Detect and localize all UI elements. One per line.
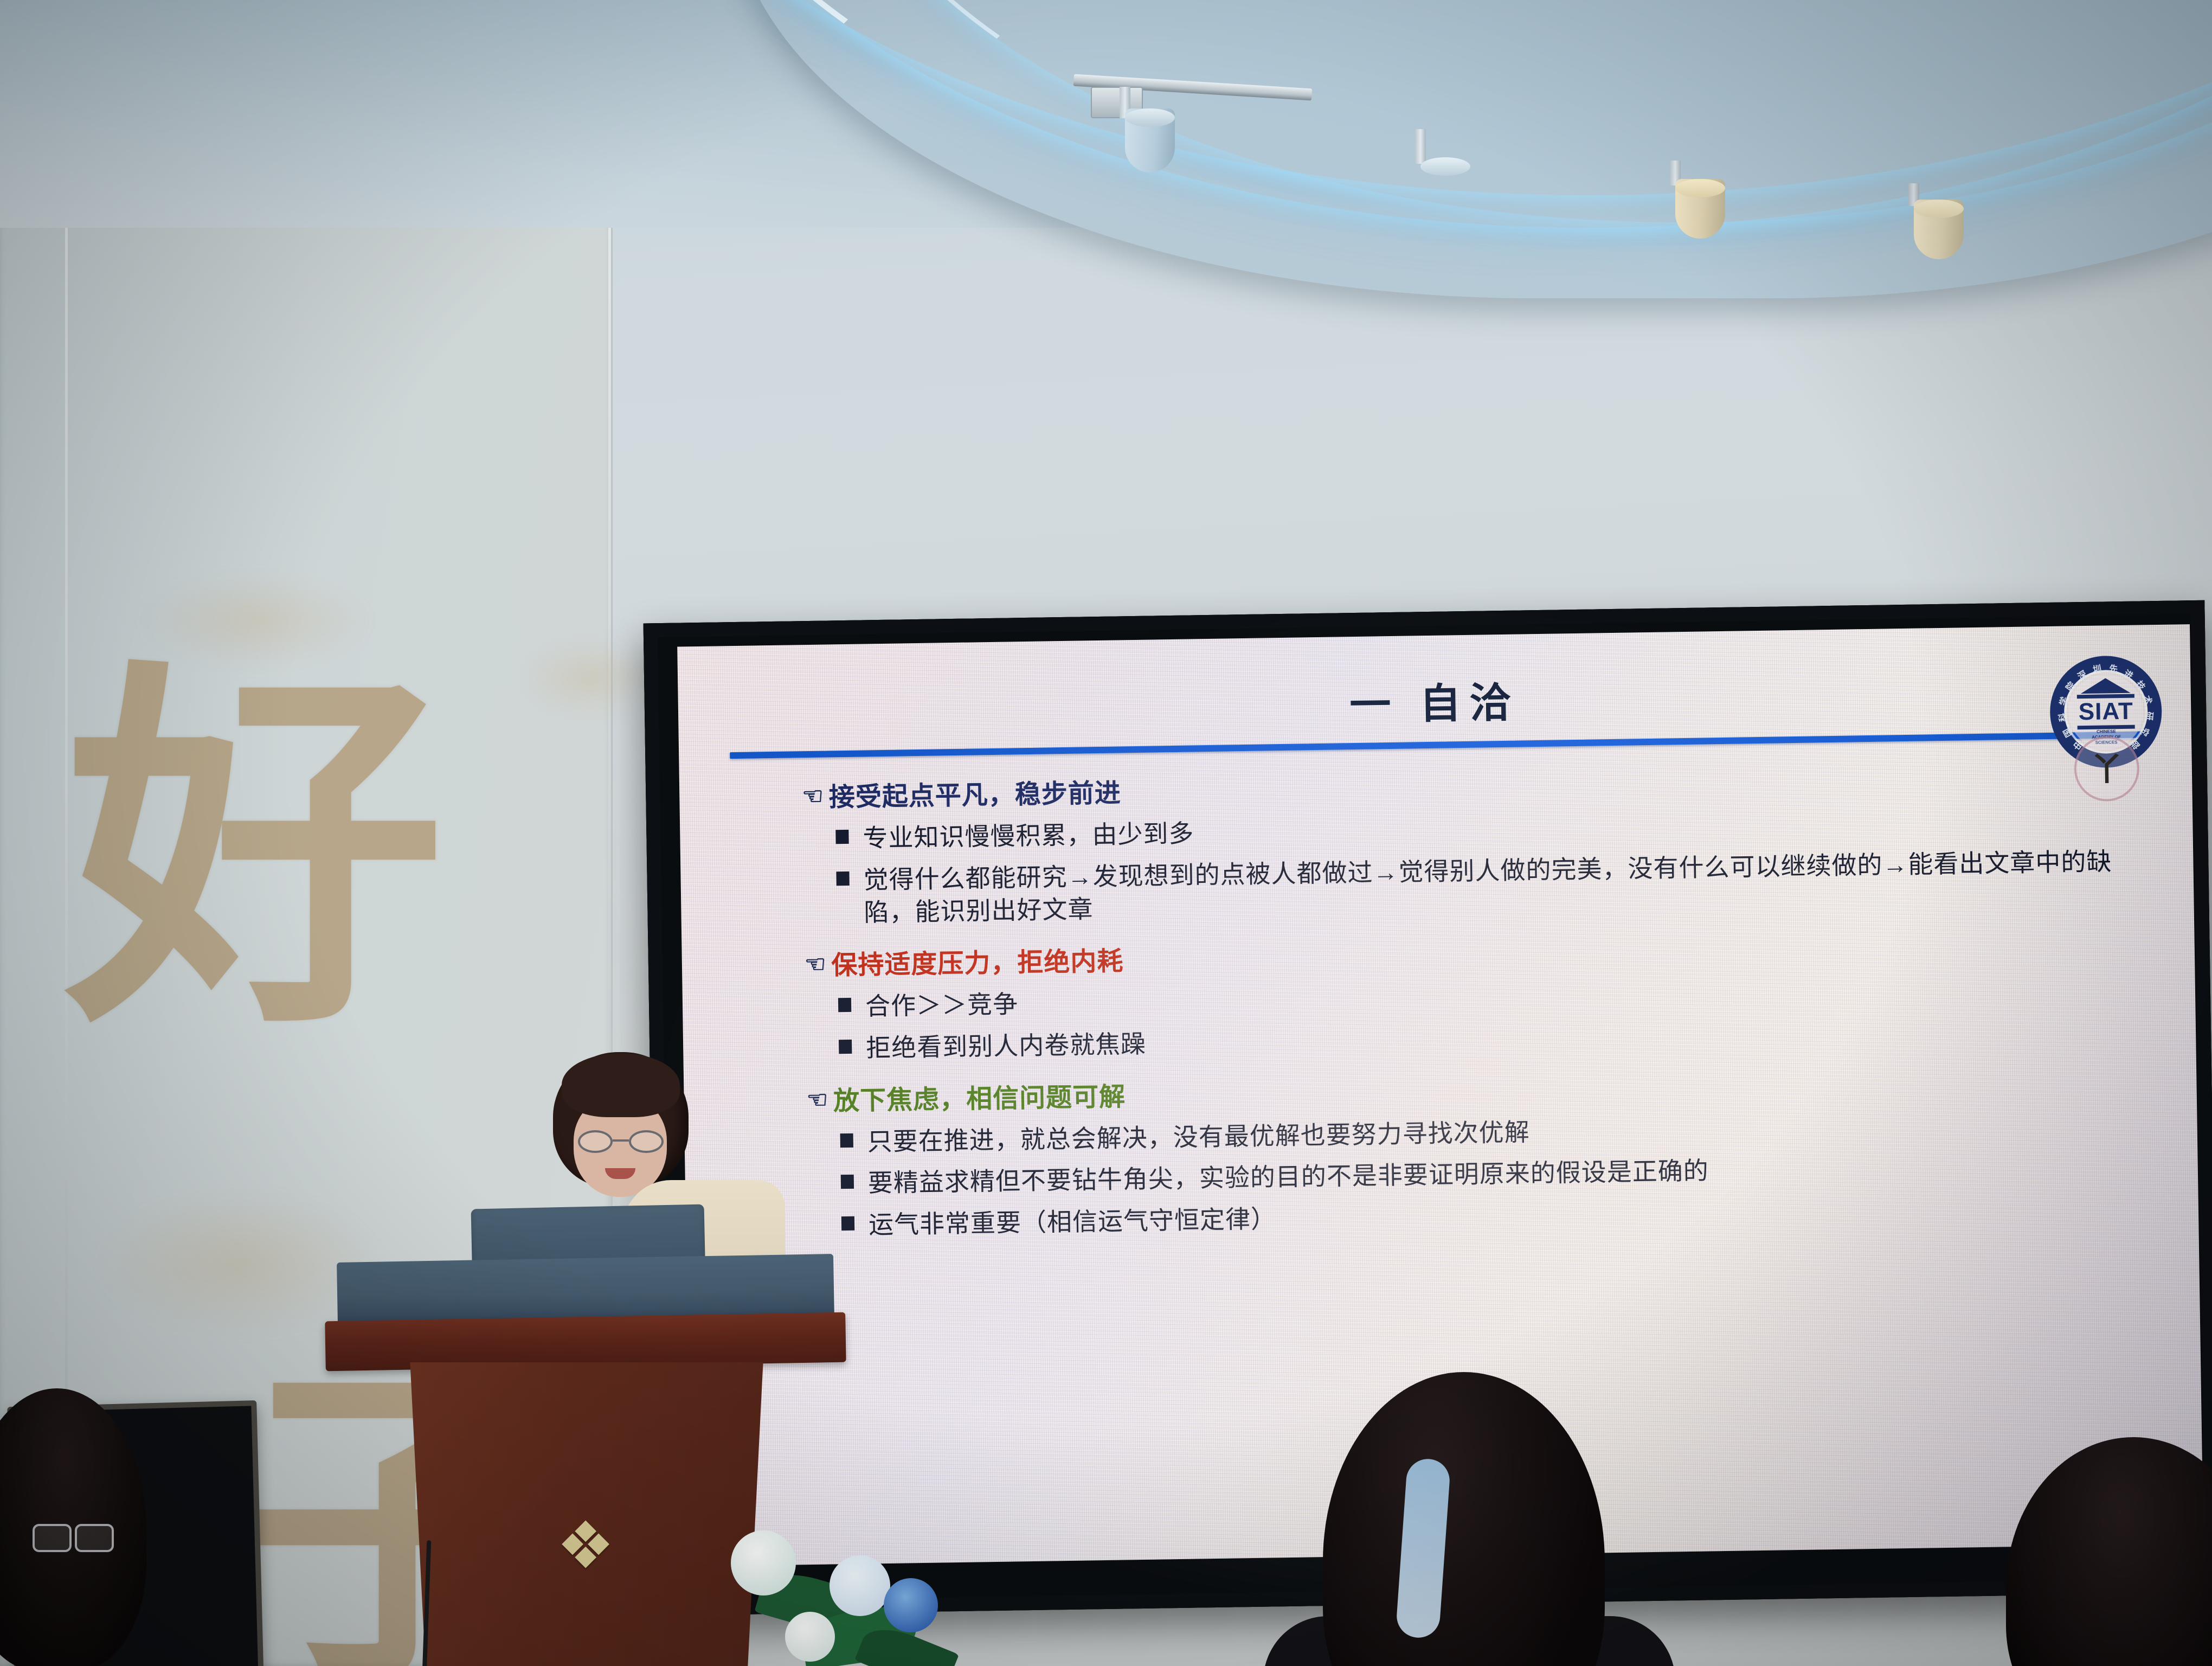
slide-body: ☞ 接受起点平凡，稳步前进 专业知识慢慢积累，由少到多 觉得什么都能研究→发现想… <box>801 756 2160 1242</box>
bullet-text: 只要在推进，就总会解决，没有最优解也要努力寻找次优解 <box>867 1116 1530 1158</box>
flower-white <box>731 1530 796 1595</box>
podium-gold-ornament-icon: ❖ <box>504 1513 667 1578</box>
logo-roof-icon <box>2080 678 2130 694</box>
wall-stain <box>520 640 661 716</box>
logo-wordmark: SIAT <box>2078 700 2133 724</box>
audience-glasses-left <box>33 1524 114 1553</box>
bullet-text: 运气非常重要（相信运气守恒定律） <box>869 1202 1277 1241</box>
bullet-text: 要精益求精但不要钻牛角尖，实验的目的不是非要证明原来的假设是正确的 <box>867 1155 1709 1200</box>
presenter-fringe <box>562 1053 680 1117</box>
square-bullet-icon <box>841 1216 854 1231</box>
bullet-text: 拒绝看到别人内卷就焦躁 <box>866 1028 1147 1065</box>
section-heading-2-text: 保持适度压力，拒绝内耗 <box>831 940 1124 982</box>
flower-white <box>829 1555 890 1616</box>
pointing-hand-icon: ☞ <box>806 1086 828 1114</box>
siat-logo: 中国科学院深圳先进技术研究院 SIAT CHINESE ACADEMY OF S… <box>2049 655 2163 768</box>
section-heading-3-text: 放下焦虑，相信问题可解 <box>833 1075 1126 1117</box>
pointing-hand-icon: ☞ <box>801 783 824 811</box>
photo-scene: 好 子 一 自洽 ☞ 接受起点平凡，稳步前进 专业知识慢慢积累，由少到多 <box>0 0 2212 1666</box>
slide-title: 一 自洽 <box>716 659 2153 740</box>
section-heading-1-text: 接受起点平凡，稳步前进 <box>828 771 1121 813</box>
square-bullet-icon <box>835 830 848 844</box>
square-bullet-icon <box>839 1040 852 1054</box>
bullet-text: 合作＞＞竞争 <box>865 988 1019 1023</box>
square-bullet-icon <box>841 1175 854 1189</box>
bullet-text: 专业知识慢慢积累，由少到多 <box>863 817 1194 855</box>
flower-blue <box>884 1578 938 1632</box>
square-bullet-icon <box>840 1133 853 1147</box>
presenter-glasses <box>578 1130 664 1153</box>
logo-badge-char: 丫 <box>2091 744 2123 790</box>
bullet-item: 觉得什么都能研究→发现想到的点被人都做过→觉得别人做的完美，没有什么可以继续做的… <box>836 844 2156 930</box>
wall-calligraphy-char-1: 好 <box>65 667 466 1047</box>
logo-subtext-1: CHINESE <box>2097 729 2116 735</box>
flower-arrangement <box>721 1497 1025 1666</box>
bullet-text: 觉得什么都能研究→发现想到的点被人都做过→觉得别人做的完美，没有什么可以继续做的… <box>863 844 2144 929</box>
square-bullet-icon <box>836 872 849 886</box>
pointing-hand-icon: ☞ <box>804 951 826 979</box>
square-bullet-icon <box>838 998 851 1012</box>
flower-white <box>785 1612 835 1662</box>
